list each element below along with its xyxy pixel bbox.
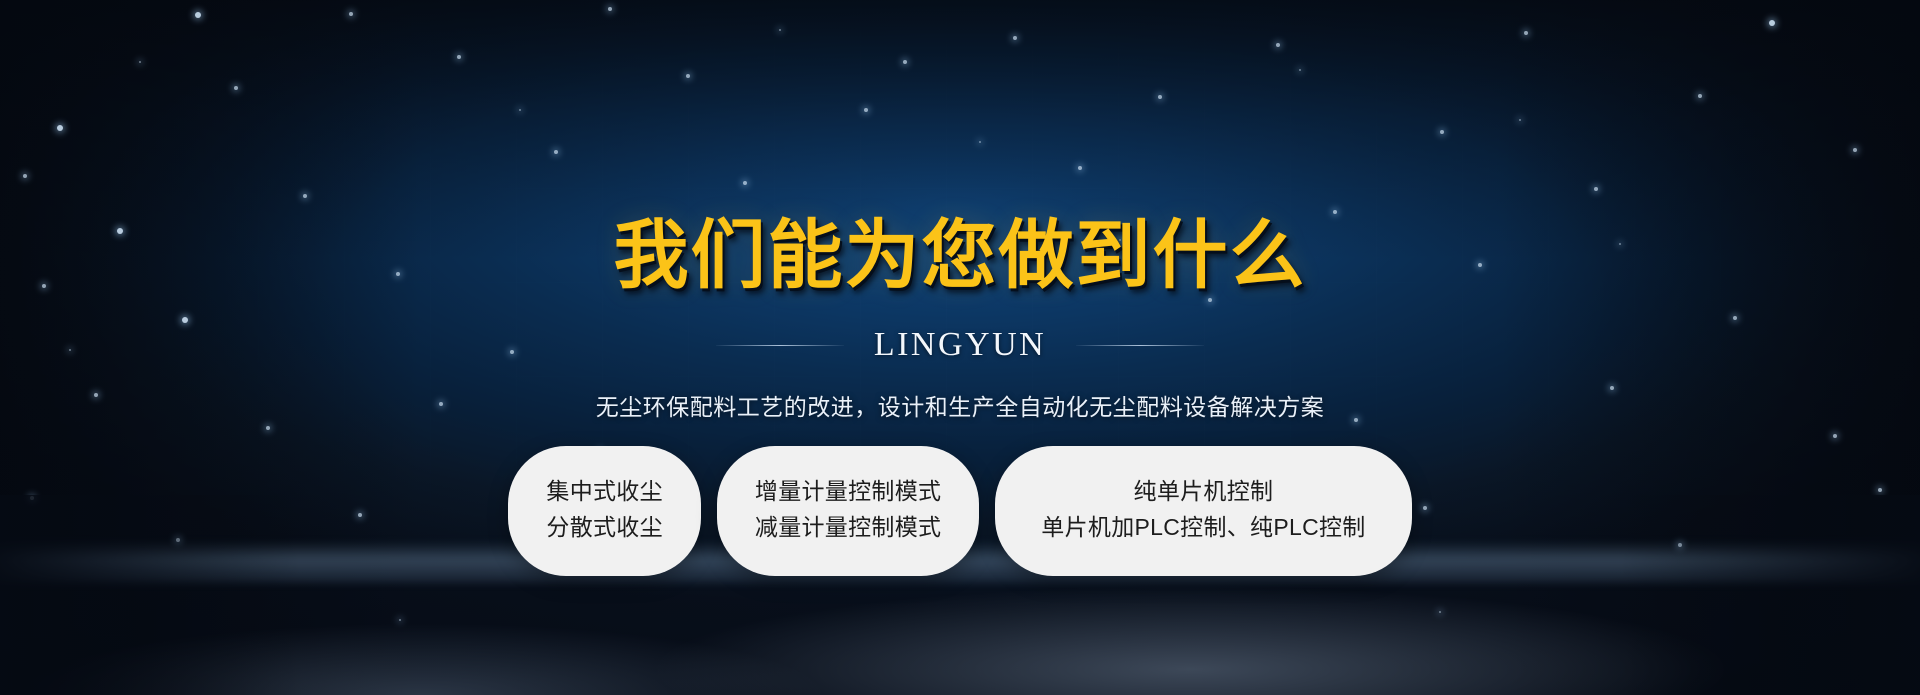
feature-pill-3-line-1: 纯单片机控制 — [1134, 479, 1274, 505]
brand-name-english: LINGYUN — [874, 328, 1046, 362]
feature-pill-row: 集中式收尘 分散式收尘 增量计量控制模式 减量计量控制模式 纯单片机控制 单片机… — [0, 446, 1920, 576]
feature-pill-1-line-2: 分散式收尘 — [546, 515, 663, 541]
feature-pill-1-line-1: 集中式收尘 — [546, 479, 663, 505]
feature-pill-2-line-1: 增量计量控制模式 — [755, 479, 941, 505]
feature-pill-2[interactable]: 增量计量控制模式 减量计量控制模式 — [717, 446, 979, 576]
hero-banner: 我们能为您做到什么 LINGYUN 无尘环保配料工艺的改进，设计和生产全自动化无… — [0, 0, 1920, 695]
feature-pill-2-line-2: 减量计量控制模式 — [755, 515, 941, 541]
banner-main-title: 我们能为您做到什么 — [0, 218, 1920, 293]
banner-tagline: 无尘环保配料工艺的改进，设计和生产全自动化无尘配料设备解决方案 — [0, 388, 1920, 422]
feature-pill-3-line-2: 单片机加PLC控制、纯PLC控制 — [1041, 515, 1365, 541]
feature-pill-3[interactable]: 纯单片机控制 单片机加PLC控制、纯PLC控制 — [995, 446, 1411, 576]
divider-rule-left — [716, 345, 844, 346]
divider-rule-right — [1076, 345, 1204, 346]
feature-pill-1[interactable]: 集中式收尘 分散式收尘 — [508, 446, 701, 576]
brand-row: LINGYUN — [0, 328, 1920, 362]
banner-content: 我们能为您做到什么 LINGYUN 无尘环保配料工艺的改进，设计和生产全自动化无… — [0, 0, 1920, 695]
